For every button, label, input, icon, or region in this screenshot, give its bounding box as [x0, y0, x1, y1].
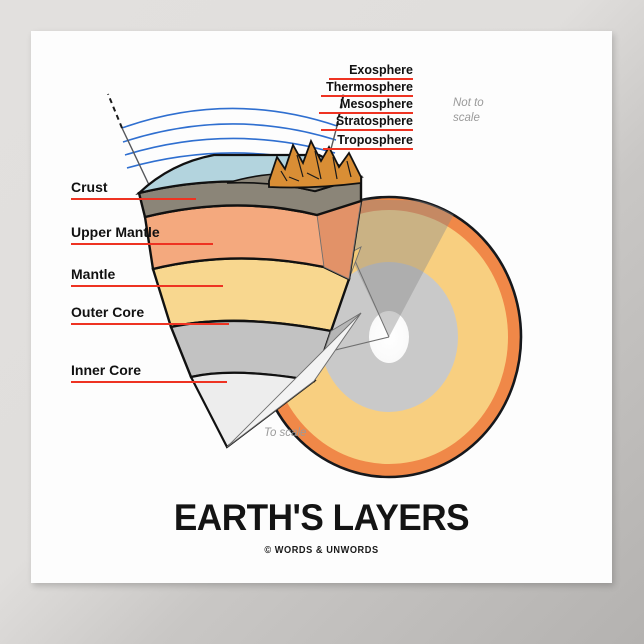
atmosphere-label-thermosphere: Thermosphere — [321, 80, 413, 96]
layer-label-text: Mantle — [71, 266, 116, 282]
not-to-scale-note-line2: scale — [453, 112, 480, 124]
atmosphere-label-troposphere: Troposphere — [323, 133, 413, 149]
page-title: EARTH'S LAYERS — [46, 499, 598, 536]
atmosphere-label-text: Stratosphere — [336, 114, 413, 128]
atmosphere-label-text: Exosphere — [349, 63, 413, 77]
layer-label-text: Upper Mantle — [71, 224, 160, 240]
atmosphere-label-mesosphere: Mesosphere — [319, 97, 413, 113]
not-to-scale-note-line1: Not to — [453, 97, 484, 109]
poster-sheet: Exosphere Thermosphere Mesosphere Strato… — [31, 31, 612, 583]
atmosphere-dashed-extension — [108, 92, 344, 128]
atmosphere-label-exosphere: Exosphere — [329, 63, 413, 79]
layer-label-text: Inner Core — [71, 362, 141, 378]
atmosphere-arc-exosphere — [122, 108, 337, 128]
atmosphere-label-text: Troposphere — [337, 133, 413, 147]
poster-credit: © WORDS & UNWORDS — [54, 545, 589, 556]
atmosphere-label-text: Mesosphere — [340, 97, 413, 111]
atmosphere-label-group: Exosphere Thermosphere Mesosphere Strato… — [319, 63, 413, 149]
to-scale-note: To scale — [264, 427, 306, 439]
atmosphere-label-stratosphere: Stratosphere — [321, 114, 413, 130]
title-block: EARTH'S LAYERS © WORDS & UNWORDS — [31, 499, 612, 556]
atmosphere-label-text: Thermosphere — [326, 80, 413, 94]
layer-label-text: Crust — [71, 179, 108, 195]
layer-label-text: Outer Core — [71, 304, 144, 320]
poster-frame: Exosphere Thermosphere Mesosphere Strato… — [0, 0, 644, 644]
